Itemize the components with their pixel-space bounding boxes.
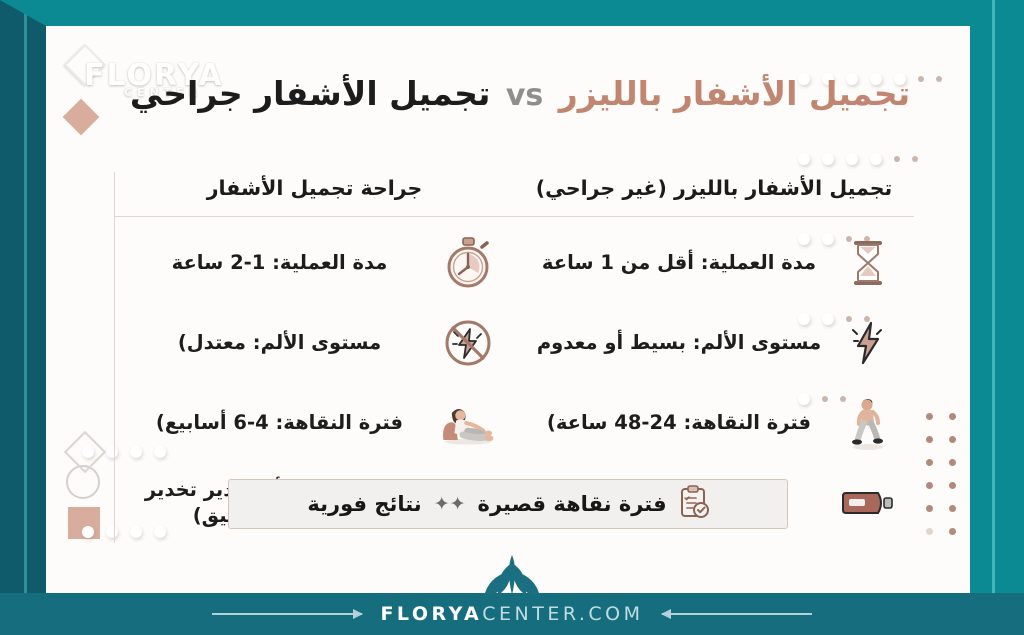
no-pain-blocked-icon bbox=[440, 315, 496, 371]
table-row: فترة النقاهة: 24-48 ساعة) bbox=[514, 383, 914, 463]
content-card: FLORYA CENTER تجميل الأشف bbox=[46, 26, 970, 595]
sparkle-icon: ✦✦ bbox=[434, 493, 466, 515]
table-row: مدة العملية: أقل من 1 ساعة bbox=[514, 223, 914, 303]
footer-arrow-left-icon bbox=[212, 613, 362, 615]
footer-arrow-right-icon bbox=[662, 613, 812, 615]
lightning-bolt-icon bbox=[840, 315, 896, 371]
corner-bevel-decoration bbox=[0, 0, 46, 26]
decorative-diamond-rose bbox=[63, 99, 100, 136]
title-rest: تجميل الأشفار جراحي bbox=[130, 74, 490, 113]
row-text: مدة العملية: 1-2 ساعة bbox=[133, 250, 426, 276]
row-text: مدة العملية: أقل من 1 ساعة bbox=[532, 250, 826, 276]
page-title: تجميل الأشفار بالليزر vs تجميل الأشفار ج… bbox=[110, 72, 930, 117]
column-header-laser: تجميل الأشفار بالليزر (غير جراحي) bbox=[514, 172, 914, 217]
walking-person-icon bbox=[840, 395, 896, 451]
resting-woman-icon bbox=[440, 395, 496, 451]
lotus-logo-icon bbox=[466, 553, 558, 613]
row-text: فترة النقاهة: 24-48 ساعة) bbox=[532, 410, 826, 436]
cream-tube-icon bbox=[840, 475, 896, 531]
table-row: مدة العملية: 1-2 ساعة bbox=[115, 223, 514, 303]
frame-band-right bbox=[970, 0, 1024, 635]
table-row: فترة النقاهة: 4-6 أسابيع) bbox=[115, 383, 514, 463]
frame-band-top bbox=[0, 0, 1024, 26]
banner-text-left: نتائج فورية bbox=[307, 492, 421, 516]
clipboard-check-icon bbox=[679, 485, 709, 523]
title-vs: vs bbox=[502, 78, 547, 113]
table-row: مستوى الألم: معتدل) bbox=[115, 303, 514, 383]
column-header-surgery: جراحة تجميل الأشفار bbox=[115, 172, 514, 217]
stopwatch-icon bbox=[440, 235, 496, 291]
banner-text-right: فترة نقاهة قصيرة bbox=[478, 492, 667, 516]
infographic-page: FLORYA CENTER تجميل الأشف bbox=[0, 0, 1024, 635]
table-row: مستوى الألم: بسيط أو معدوم bbox=[514, 303, 914, 383]
hourglass-icon bbox=[840, 235, 896, 291]
title-highlight: تجميل الأشفار بالليزر bbox=[559, 74, 910, 113]
highlights-banner: فترة نقاهة قصيرة ✦✦ نتائج فورية bbox=[228, 479, 788, 529]
row-text: مستوى الألم: معتدل) bbox=[133, 330, 426, 356]
row-text: مستوى الألم: بسيط أو معدوم bbox=[532, 330, 826, 356]
row-text: فترة النقاهة: 4-6 أسابيع) bbox=[133, 410, 426, 436]
logo-diamond-icon bbox=[64, 44, 106, 86]
frame-band-left bbox=[0, 0, 46, 635]
decorative-dot-grid-bottom-right bbox=[926, 413, 956, 535]
